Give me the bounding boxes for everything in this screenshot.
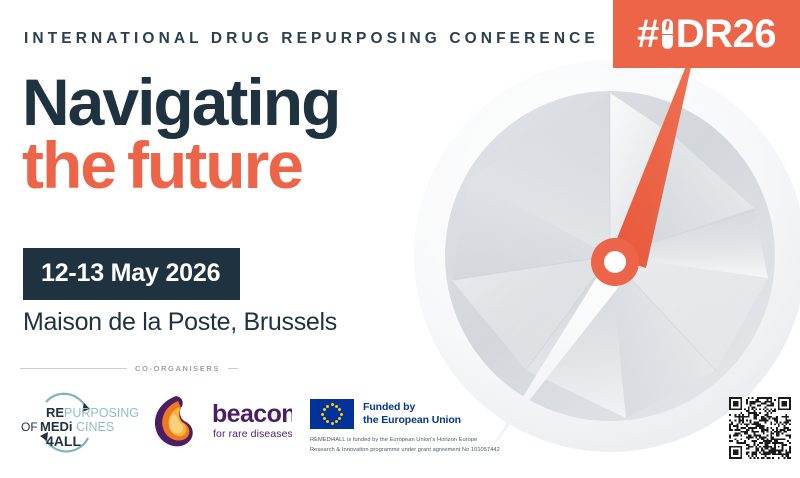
co-organisers-divider: CO-ORGANISERS	[20, 364, 238, 373]
eu-star	[323, 417, 326, 420]
page-title: INTERNATIONAL DRUG REPURPOSING CONFERENC…	[24, 30, 599, 48]
eu-star	[338, 408, 341, 411]
eu-funding-label: Funded by the European Union	[363, 401, 461, 428]
eu-star	[338, 417, 341, 420]
eu-star	[340, 413, 343, 416]
conference-banner: INTERNATIONAL DRUG REPURPOSING CONFERENC…	[0, 0, 800, 478]
remedi-cines: CINES	[76, 420, 114, 434]
headline: Navigating thefuture	[22, 72, 339, 197]
headline-line-1: Navigating	[22, 72, 339, 133]
eu-star	[326, 405, 329, 408]
eu-funding-label-line-2: the European Union	[363, 414, 461, 427]
divider-rule-right	[228, 368, 238, 369]
remedi-4all: 4ALL	[46, 433, 81, 449]
eu-star	[323, 408, 326, 411]
hashtag-suffix: DR26	[676, 14, 776, 54]
funding-disclaimer-line-2: Research & Innovation programme under gr…	[310, 446, 500, 456]
co-organisers-label: CO-ORGANISERS	[135, 364, 220, 373]
pill-capsule-icon	[661, 19, 674, 49]
divider-rule-left	[20, 368, 127, 369]
funding-disclaimer: REMEDi4ALL is funded by the European Uni…	[310, 436, 500, 456]
eu-funding-label-line-1: Funded by	[363, 401, 461, 414]
qr-code[interactable]	[729, 397, 791, 459]
headline-word-future: future	[127, 128, 302, 202]
eu-star	[335, 420, 338, 423]
remedi4all-logo[interactable]: RE PURPOSING OF MEDi CINES 4ALL	[16, 386, 144, 460]
beacon-logo[interactable]: beacon for rare diseases	[150, 392, 292, 452]
hashtag-badge: #DR26	[613, 0, 800, 68]
eu-funding-block: Funded by the European Union REMEDi4ALL …	[310, 399, 500, 456]
beacon-flame-icon	[155, 396, 193, 446]
eu-star	[331, 403, 334, 406]
remedi-of: OF	[21, 420, 38, 434]
eu-star	[321, 413, 324, 416]
eu-funding-row: Funded by the European Union	[310, 399, 500, 429]
headline-line-2: thefuture	[22, 135, 339, 196]
remedi-re: RE	[46, 405, 64, 420]
hash-symbol: #	[637, 14, 659, 54]
hashtag-text: #DR26	[637, 14, 776, 54]
funding-disclaimer-line-1: REMEDi4ALL is funded by the European Uni…	[310, 436, 500, 446]
eu-star	[335, 405, 338, 408]
date-badge: 12-13 May 2026	[23, 248, 240, 300]
eu-star	[331, 422, 334, 425]
remedi-purposing: PURPOSING	[64, 406, 139, 420]
beacon-wordmark: beacon	[212, 400, 292, 428]
european-union-flag-icon	[310, 399, 354, 429]
eu-star	[326, 420, 329, 423]
headline-word-the: the	[22, 128, 115, 202]
beacon-tagline: for rare diseases	[213, 428, 292, 440]
venue-text: Maison de la Poste, Brussels	[23, 308, 337, 337]
remedi-medi: MEDi	[40, 419, 73, 434]
